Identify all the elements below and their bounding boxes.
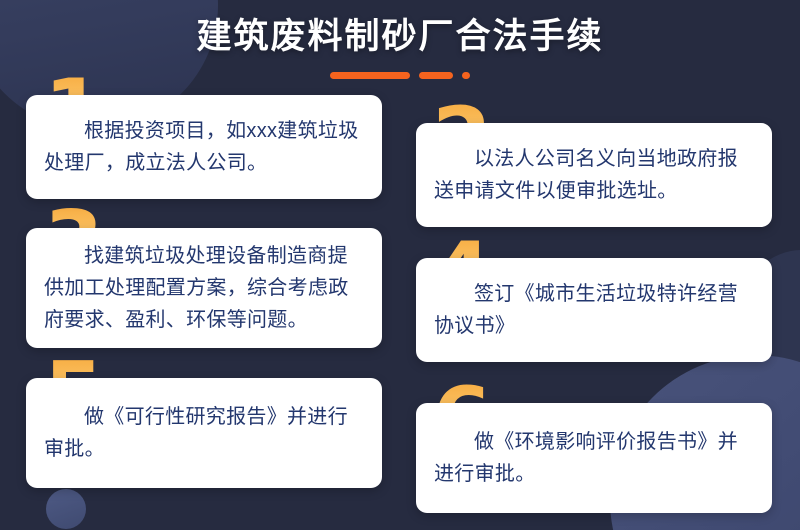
step-card-2-text: 以法人公司名义向当地政府报送申请文件以便审批选址。: [416, 143, 772, 207]
title-underline-decoration: [0, 71, 800, 80]
infographic-poster: 建筑废料制砂厂合法手续 1 2 3 4 5 6 根据投资项目，如xxx建筑垃圾处…: [0, 0, 800, 530]
step-card-4-text: 签订《城市生活垃圾特许经营协议书》: [416, 278, 772, 342]
step-card-6-text: 做《环境影响评价报告书》并进行审批。: [416, 426, 772, 490]
step-card-4: 签订《城市生活垃圾特许经营协议书》: [416, 258, 772, 362]
step-card-3-text: 找建筑垃圾处理设备制造商提供加工处理配置方案，综合考虑政府要求、盈利、环保等问题…: [26, 240, 382, 336]
step-card-3: 找建筑垃圾处理设备制造商提供加工处理配置方案，综合考虑政府要求、盈利、环保等问题…: [26, 228, 382, 348]
step-card-1: 根据投资项目，如xxx建筑垃圾处理厂，成立法人公司。: [26, 95, 382, 199]
underline-segment-long: [330, 72, 410, 79]
step-card-5-text: 做《可行性研究报告》并进行审批。: [26, 401, 382, 465]
step-card-2: 以法人公司名义向当地政府报送申请文件以便审批选址。: [416, 123, 772, 227]
step-card-6: 做《环境影响评价报告书》并进行审批。: [416, 403, 772, 513]
underline-segment-mid: [419, 72, 453, 79]
underline-segment-dot: [462, 72, 470, 79]
step-card-1-text: 根据投资项目，如xxx建筑垃圾处理厂，成立法人公司。: [26, 115, 382, 179]
step-card-5: 做《可行性研究报告》并进行审批。: [26, 378, 382, 488]
decorative-circle-bottom-left: [46, 489, 86, 529]
page-title: 建筑废料制砂厂合法手续: [0, 0, 800, 57]
